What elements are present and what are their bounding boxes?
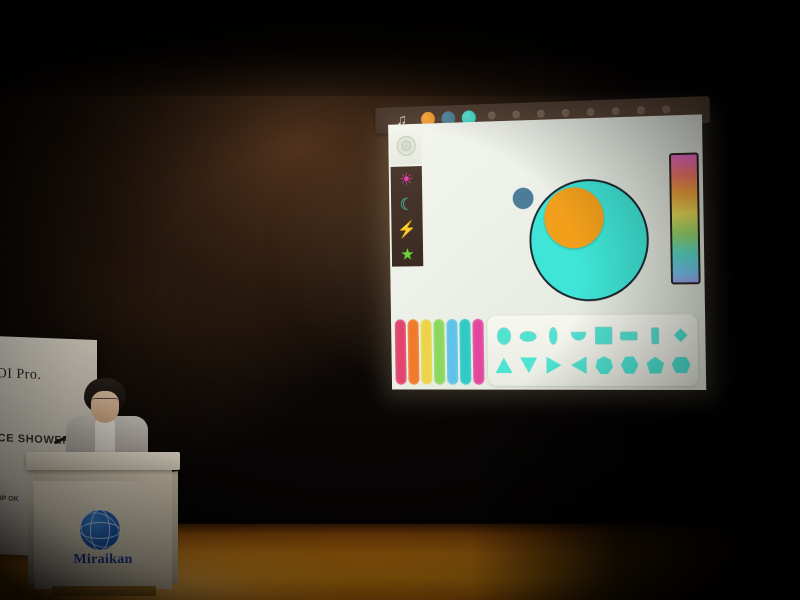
flower-logo-icon	[397, 135, 417, 156]
podium: Miraikan	[28, 452, 178, 592]
lightning-bolt-icon[interactable]: ⚡	[391, 217, 423, 243]
shape-pentagon[interactable]	[644, 354, 666, 376]
shape-palette[interactable]	[487, 314, 698, 386]
sun-burst-icon[interactable]: ☀	[391, 167, 423, 193]
empty-swatch-slot[interactable]	[562, 109, 570, 117]
globe-icon	[80, 510, 120, 550]
shape-triangle-down[interactable]	[518, 354, 539, 376]
banner-line-3: AT UP OK	[0, 494, 26, 506]
projection-screen: ♫ ☀ ☾ ⚡ ★	[287, 92, 717, 410]
app-window: ☀ ☾ ⚡ ★	[388, 114, 706, 390]
shape-semicircle[interactable]	[568, 325, 589, 347]
color-bar-strip[interactable]	[395, 319, 485, 385]
color-bar-teal[interactable]	[459, 319, 471, 385]
star-icon[interactable]: ★	[392, 242, 424, 267]
shape-rectangle-tall[interactable]	[644, 324, 666, 346]
color-bar-magenta[interactable]	[472, 319, 484, 385]
color-bar-orange[interactable]	[408, 319, 420, 384]
color-bar-green[interactable]	[433, 319, 445, 385]
empty-swatch-slot[interactable]	[637, 106, 645, 114]
floor-shadow	[470, 522, 800, 600]
shape-triangle-right[interactable]	[543, 354, 564, 376]
empty-swatch-slot[interactable]	[512, 111, 520, 119]
color-bar-crimson[interactable]	[395, 319, 407, 384]
empty-swatch-slot[interactable]	[587, 108, 595, 116]
podium-bevel	[34, 469, 172, 481]
drawing-canvas[interactable]	[424, 159, 664, 314]
ceiling-shadow	[0, 0, 800, 96]
shape-ellipse-vertical[interactable]	[493, 325, 514, 347]
shape-heptagon[interactable]	[593, 354, 615, 376]
color-bar-sky[interactable]	[446, 319, 458, 385]
app-logo-tile	[390, 126, 422, 165]
tool-rail[interactable]: ☀ ☾ ⚡ ★	[391, 166, 424, 267]
auditorium-scene: ♫ ☀ ☾ ⚡ ★	[0, 0, 800, 600]
shape-palette-row-2[interactable]	[493, 351, 692, 379]
crescent-moon-icon[interactable]: ☾	[391, 192, 423, 218]
podium-top	[26, 452, 180, 470]
shape-hexagon-wide[interactable]	[670, 354, 692, 376]
shape-rectangle-wide[interactable]	[618, 324, 640, 346]
shape-hexagon[interactable]	[619, 354, 641, 376]
empty-swatch-slot[interactable]	[488, 112, 496, 120]
circle-small-blue[interactable]	[513, 187, 534, 209]
podium-base	[52, 586, 156, 596]
empty-swatch-slot[interactable]	[662, 105, 670, 113]
speaker-glasses	[92, 398, 118, 406]
color-bar-yellow[interactable]	[420, 319, 432, 385]
shape-palette-row-1[interactable]	[493, 321, 692, 350]
shape-triangle-left[interactable]	[568, 354, 589, 376]
hue-slider[interactable]	[669, 152, 701, 284]
empty-swatch-slot[interactable]	[612, 107, 620, 115]
empty-swatch-slot[interactable]	[537, 110, 545, 118]
podium-label: Miraikan	[50, 552, 156, 568]
shape-square[interactable]	[593, 325, 615, 347]
speaker-face	[91, 391, 119, 423]
shape-diamond[interactable]	[670, 324, 692, 346]
shape-ellipse-horizontal[interactable]	[518, 325, 539, 347]
shape-ellipse-narrow[interactable]	[543, 325, 564, 347]
shape-triangle-up[interactable]	[493, 355, 514, 376]
